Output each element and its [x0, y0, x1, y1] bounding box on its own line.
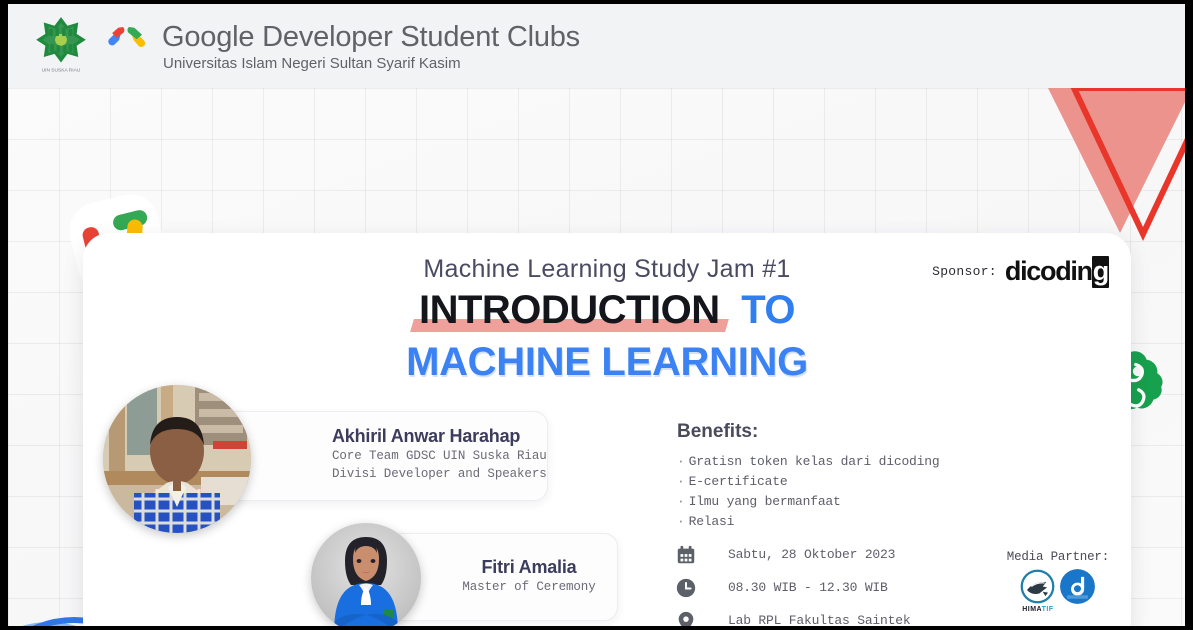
headline-word-to: TO [741, 288, 795, 332]
headline-line-1: INTRODUCTION TO [83, 288, 1131, 333]
clock-icon [675, 577, 697, 599]
poster-screenshot: UIN SUSKA RIAU Google Developer Student … [0, 0, 1193, 630]
detail-date-text: Sabtu, 28 Oktober 2023 [728, 547, 895, 562]
highlight-wrapper: INTRODUCTION [419, 288, 720, 333]
headline-line-2: MACHINE LEARNING [83, 340, 1131, 385]
mc-role: Master of Ceremony [462, 578, 595, 596]
triangle-outline-decoration [1068, 88, 1185, 242]
sponsor-label: Sponsor: [932, 264, 997, 279]
benefit-item: ·Relasi [677, 512, 939, 532]
detail-row-time: 08.30 WIB - 12.30 WIB [675, 571, 910, 604]
himatif-caption: HIMATIF [1020, 606, 1055, 613]
calendar-icon [675, 544, 697, 566]
speaker-name: Akhiril Anwar Harahap [332, 426, 547, 447]
benefit-item: ·Gratisn token kelas dari dicoding [677, 452, 939, 472]
dicoding-circle-logo [1060, 569, 1095, 604]
gdsc-branding: Google Developer Student Clubs Universit… [106, 21, 580, 72]
speaker-card: Akhiril Anwar Harahap Core Team GDSC UIN… [223, 411, 548, 501]
bullet-icon: · [677, 454, 685, 469]
bullet-icon: · [677, 474, 685, 489]
gdsc-code-brackets-icon [106, 22, 152, 52]
location-pin-icon [675, 610, 697, 627]
headline-word-introduction: INTRODUCTION [419, 288, 720, 332]
benefits-section: Benefits: ·Gratisn token kelas dari dico… [677, 421, 939, 533]
himatif-logo-wrapper: HIMATIF [1020, 569, 1055, 613]
speaker-role: Core Team GDSC UIN Suska Riau Divisi Dev… [332, 447, 547, 483]
event-details: Sabtu, 28 Oktober 2023 08.30 WIB - 12.30… [675, 538, 910, 626]
bullet-icon: · [677, 494, 685, 509]
benefit-item: ·Ilmu yang bermanfaat [677, 492, 939, 512]
detail-location-text: Lab RPL Fakultas Saintek [728, 613, 910, 626]
benefit-item: ·E-certificate [677, 472, 939, 492]
svg-text:UIN SUSKA RIAU: UIN SUSKA RIAU [42, 68, 81, 74]
himatif-logo [1020, 569, 1055, 604]
event-poster-card: Machine Learning Study Jam #1 INTRODUCTI… [83, 233, 1131, 626]
uin-suska-riau-star-logo: UIN SUSKA RIAU [34, 15, 88, 77]
dicoding-circle-logo-wrapper [1060, 569, 1095, 604]
brand-title: Google Developer Student Clubs [162, 21, 580, 54]
media-partner-logos: HIMATIF [1007, 569, 1109, 613]
dicoding-logo: dicoding [1005, 256, 1109, 287]
detail-time-text: 08.30 WIB - 12.30 WIB [728, 580, 888, 595]
poster-canvas: Machine Learning Study Jam #1 INTRODUCTI… [8, 88, 1185, 626]
dicoding-wordmark-part2: g [1092, 256, 1109, 288]
media-partner-label: Media Partner: [1007, 550, 1109, 564]
bullet-icon: · [677, 514, 685, 529]
mc-name: Fitri Amalia [482, 557, 577, 578]
benefits-title: Benefits: [677, 421, 939, 443]
speaker-photo-fitri [311, 523, 421, 626]
brand-subtitle: Universitas Islam Negeri Sultan Syarif K… [163, 55, 580, 72]
detail-row-date: Sabtu, 28 Oktober 2023 [675, 538, 910, 571]
media-partner-section: Media Partner: HIMATIF [1007, 550, 1109, 613]
mc-card: Fitri Amalia Master of Ceremony [388, 533, 618, 621]
sponsor-block: Sponsor: dicoding [932, 256, 1109, 287]
page-header: UIN SUSKA RIAU Google Developer Student … [8, 4, 1185, 88]
speaker-photo-akhiril [103, 385, 251, 533]
dicoding-wordmark-part1: dicodin [1005, 256, 1092, 286]
detail-row-location: Lab RPL Fakultas Saintek [675, 604, 910, 626]
